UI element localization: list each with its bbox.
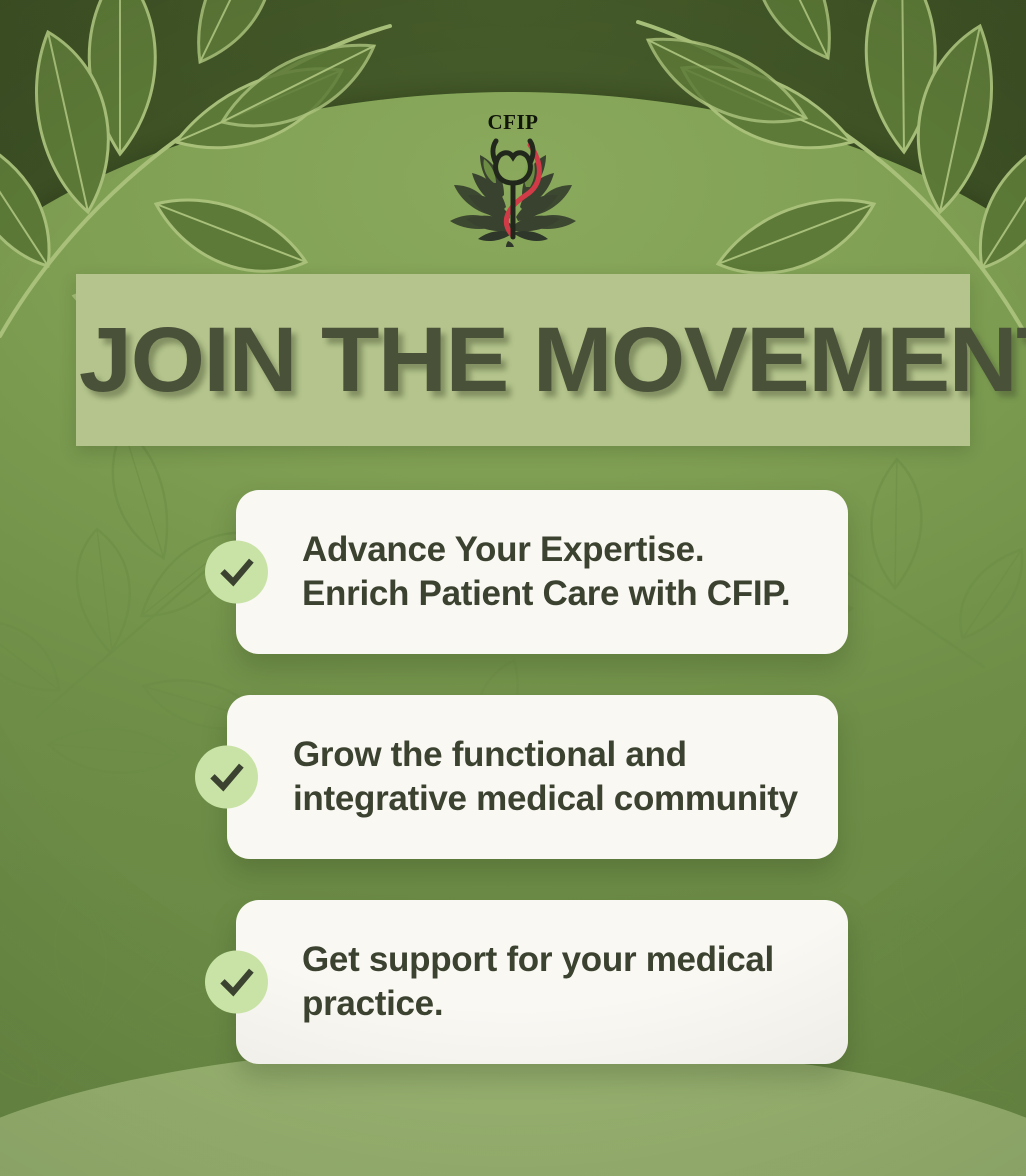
- benefit-line-2: integrative medical community: [293, 777, 798, 821]
- check-icon: [205, 951, 268, 1014]
- caduceus-laurel-emblem-icon: [438, 135, 588, 247]
- headline-banner: JOIN THE MOVEMENT!: [76, 274, 970, 446]
- benefit-line-1: Advance Your Expertise.: [302, 528, 790, 572]
- benefit-card-text: Get support for your medical practice.: [236, 938, 808, 1026]
- benefit-line-2: practice.: [302, 982, 774, 1026]
- benefit-card-text: Advance Your Expertise. Enrich Patient C…: [236, 528, 824, 616]
- list-item: Advance Your Expertise. Enrich Patient C…: [0, 490, 1026, 654]
- benefit-card: Grow the functional and integrative medi…: [227, 695, 838, 859]
- check-icon: [195, 746, 258, 809]
- benefit-line-1: Grow the functional and: [293, 733, 798, 777]
- promotional-poster: CFIP: [0, 0, 1026, 1176]
- benefit-card: Get support for your medical practice.: [236, 900, 848, 1064]
- benefit-card-text: Grow the functional and integrative medi…: [227, 733, 832, 821]
- benefit-card: Advance Your Expertise. Enrich Patient C…: [236, 490, 848, 654]
- benefit-line-1: Get support for your medical: [302, 938, 774, 982]
- benefit-line-2: Enrich Patient Care with CFIP.: [302, 572, 790, 616]
- benefits-list: Advance Your Expertise. Enrich Patient C…: [0, 490, 1026, 1105]
- list-item: Grow the functional and integrative medi…: [0, 695, 1026, 859]
- page-title: JOIN THE MOVEMENT!: [58, 315, 988, 405]
- logo-wordmark: CFIP: [438, 112, 588, 133]
- check-icon: [205, 541, 268, 604]
- list-item: Get support for your medical practice.: [0, 900, 1026, 1064]
- cfip-logo: CFIP: [438, 112, 588, 248]
